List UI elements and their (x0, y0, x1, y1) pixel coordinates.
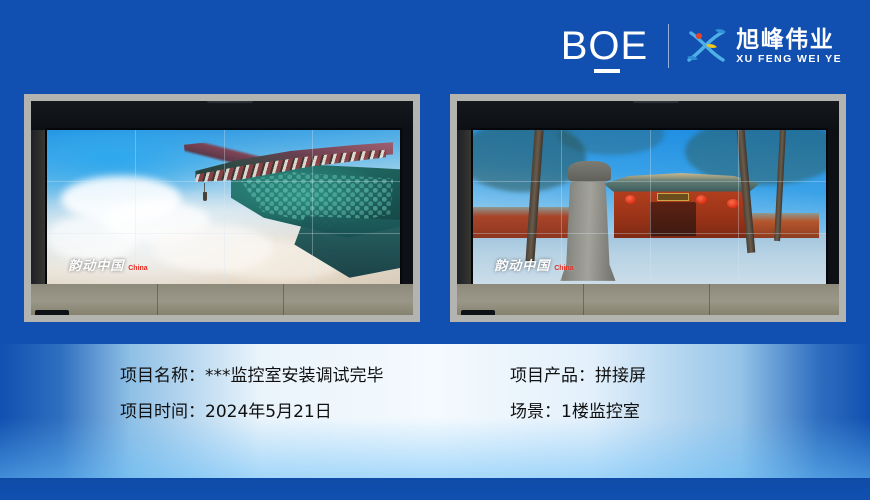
desk-right (457, 284, 839, 315)
info-row-project-name: 项目名称：***监控室安装调试完毕 (120, 366, 490, 386)
watermark-text-cn: 韵动中国 (68, 260, 124, 273)
ceiling-right (457, 101, 839, 131)
ceiling-projector-box (207, 101, 253, 103)
info-column-left: 项目名称：***监控室安装调试完毕 项目时间：2024年5月21日 (120, 366, 490, 478)
info-row-product: 项目产品：拼接屏 (510, 366, 646, 386)
lcd-video-wall-left: 韵动中国 China (47, 130, 400, 284)
photo-frame-left[interactable]: 韵动中国 China (24, 94, 420, 322)
info-column-right: 项目产品：拼接屏 场景：1楼监控室 (510, 366, 646, 478)
lcd-video-wall-right: 韵动中国 China (473, 130, 826, 284)
side-wall-right (457, 130, 473, 284)
value-project-date: 2024年5月21日 (205, 402, 332, 422)
info-row-scene: 场景：1楼监控室 (510, 402, 646, 422)
desk-left (31, 284, 413, 315)
side-wall-left (31, 130, 47, 284)
chair (461, 310, 495, 315)
header: BOE 旭峰伟业 XU FENG WEI YE (0, 0, 870, 92)
info-panel: 项目名称：***监控室安装调试完毕 项目时间：2024年5月21日 项目产品：拼… (0, 344, 870, 478)
ceiling-projector-box (633, 101, 679, 103)
watermark-text-en: China (128, 265, 147, 273)
stone-lion-head (568, 161, 610, 183)
partner-name-block: 旭峰伟业 XU FENG WEI YE (736, 27, 842, 65)
info-row-project-date: 项目时间：2024年5月21日 (120, 402, 490, 422)
ceiling-left (31, 101, 413, 131)
bottom-band (0, 478, 870, 500)
boe-logo: BOE (561, 26, 652, 66)
xufeng-bird-mark-icon (685, 26, 727, 66)
label-product: 项目产品： (510, 366, 595, 386)
boe-wordmark: BOE (561, 26, 648, 66)
partner-logo: 旭峰伟业 XU FENG WEI YE (685, 26, 842, 66)
roof-bell (203, 192, 207, 201)
logo-group: BOE 旭峰伟业 XU FENG WEI YE (561, 22, 842, 70)
wall-content-courtyard: 韵动中国 China (473, 130, 826, 284)
logo-divider (668, 24, 669, 68)
label-project-date: 项目时间： (120, 402, 205, 422)
red-lantern (696, 195, 707, 204)
cloud (47, 215, 139, 261)
value-project-name: ***监控室安装调试完毕 (205, 366, 384, 386)
label-scene: 场景： (510, 402, 561, 422)
video-wall-left: 韵动中国 China (31, 101, 413, 315)
label-project-name: 项目名称： (120, 366, 205, 386)
value-product: 拼接屏 (595, 366, 646, 386)
value-scene: 1楼监控室 (561, 402, 640, 422)
watermark-left: 韵动中国 China (68, 260, 147, 273)
partner-name-en: XU FENG WEI YE (736, 53, 842, 66)
wall-content-sky: 韵动中国 China (47, 130, 400, 284)
video-wall-right: 韵动中国 China (457, 101, 839, 315)
boe-underline-icon (594, 69, 620, 73)
photo-frame-right[interactable]: 韵动中国 China (450, 94, 846, 322)
red-lantern (625, 195, 636, 204)
photo-gallery: 韵动中国 China (24, 94, 846, 322)
chair (35, 310, 69, 315)
partner-name-cn: 旭峰伟业 (736, 27, 842, 53)
temple-wing-left (473, 207, 579, 238)
temple-plaque (657, 193, 689, 201)
temple-door (650, 202, 696, 236)
